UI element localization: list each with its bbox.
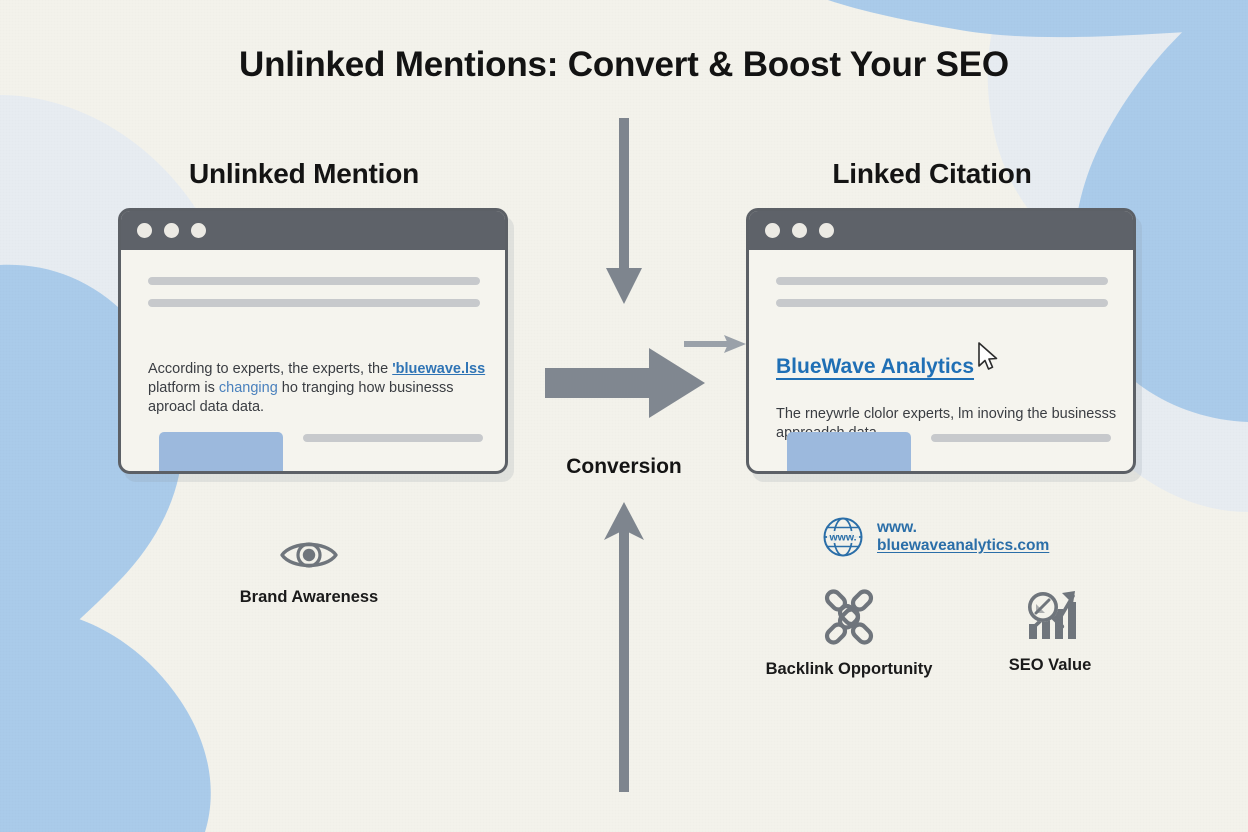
unlinked-brand-mention: 'bluewave.lss (392, 361, 485, 377)
arrow-down-icon (600, 118, 648, 308)
maximize-dot-icon[interactable] (819, 223, 834, 238)
content-image-block (159, 432, 283, 474)
url-line-1: www. (877, 519, 1049, 537)
placeholder-line (148, 299, 480, 307)
browser-titlebar (749, 211, 1133, 250)
browser-content: BlueWave Analytics The rneywrle clolor e… (749, 250, 1133, 474)
unlinked-mention-paragraph: According to experts, the experts, the '… (148, 360, 489, 417)
website-url-text[interactable]: www. bluewaveanalytics.com (877, 519, 1049, 555)
heading-linked-citation: Linked Citation (746, 158, 1118, 190)
feature-label: Brand Awareness (178, 588, 440, 607)
browser-content: According to experts, the experts, the '… (121, 250, 505, 474)
close-dot-icon[interactable] (137, 223, 152, 238)
minimize-dot-icon[interactable] (792, 223, 807, 238)
linked-citation-anchor[interactable]: BlueWave Analytics (776, 355, 974, 379)
feature-label: Backlink Opportunity (718, 660, 980, 679)
seo-growth-chart-icon (1021, 586, 1079, 644)
placeholder-line (776, 299, 1108, 307)
website-url-row[interactable]: www. www. bluewaveanalytics.com (822, 516, 1049, 558)
url-line-2: bluewaveanalytics.com (877, 537, 1049, 555)
mouse-cursor-icon (977, 342, 999, 372)
placeholder-line (931, 434, 1111, 442)
maximize-dot-icon[interactable] (191, 223, 206, 238)
arrow-right-small-icon (684, 332, 748, 356)
placeholder-line (776, 277, 1108, 285)
arrow-up-icon (600, 500, 648, 792)
paragraph-highlight: changing (219, 380, 278, 396)
feature-label: SEO Value (952, 656, 1148, 675)
placeholder-line (148, 277, 480, 285)
browser-window-linked: BlueWave Analytics The rneywrle clolor e… (746, 208, 1136, 474)
close-dot-icon[interactable] (765, 223, 780, 238)
content-image-block (787, 432, 911, 474)
broken-link-chain-icon (818, 586, 880, 648)
paragraph-segment: platform is (148, 380, 219, 396)
globe-www-icon: www. (822, 516, 864, 558)
placeholder-line (303, 434, 483, 442)
heading-unlinked-mention: Unlinked Mention (118, 158, 490, 190)
infographic-canvas: Unlinked Mentions: Convert & Boost Your … (0, 0, 1248, 832)
feature-seo-value: SEO Value (952, 586, 1148, 675)
paragraph-segment: According to experts, the experts, the (148, 361, 392, 377)
globe-icon-label: www. (828, 532, 856, 544)
browser-window-unlinked: According to experts, the experts, the '… (118, 208, 508, 474)
minimize-dot-icon[interactable] (164, 223, 179, 238)
feature-brand-awareness: Brand Awareness (178, 534, 440, 607)
feature-backlink-opportunity: Backlink Opportunity (718, 586, 980, 679)
eye-icon (278, 534, 340, 576)
browser-titlebar (121, 211, 505, 250)
arrow-right-large-icon (545, 348, 705, 418)
page-title: Unlinked Mentions: Convert & Boost Your … (0, 45, 1248, 85)
conversion-label: Conversion (520, 455, 728, 479)
